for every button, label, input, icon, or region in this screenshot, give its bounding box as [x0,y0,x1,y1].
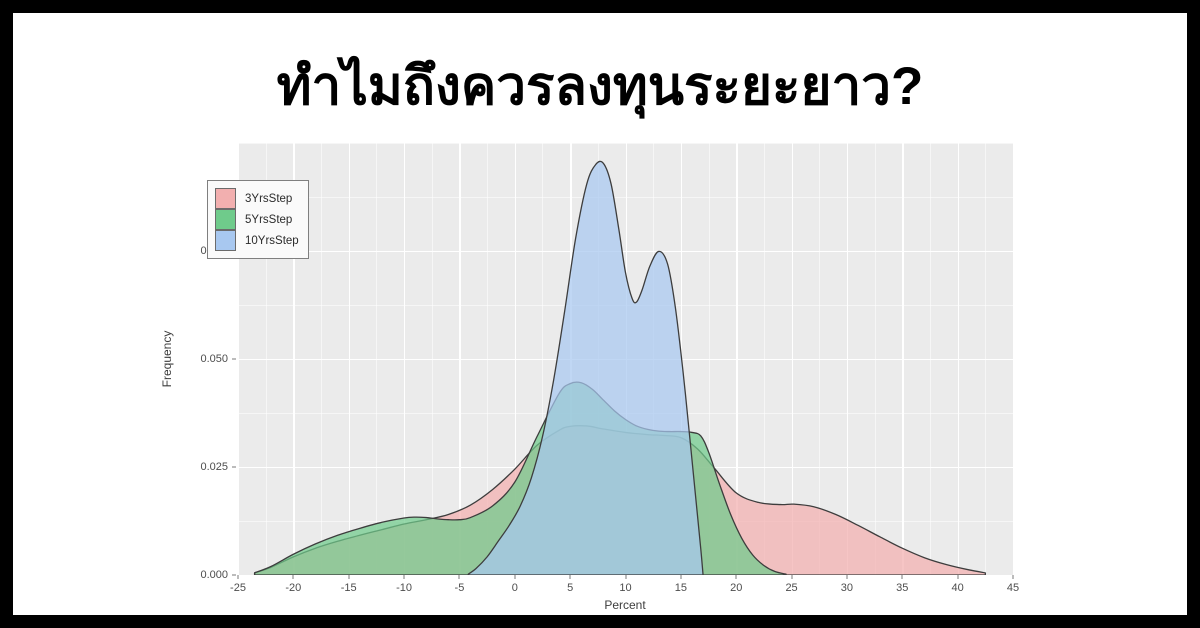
x-axis-tick-mark [348,575,349,579]
x-axis-tick-label: 5 [567,582,573,594]
x-axis-tick-mark [680,575,681,579]
x-axis-tick-label: 30 [841,582,853,594]
x-axis-tick-mark [570,575,571,579]
x-axis-tick-label: -5 [455,582,465,594]
x-axis-tick-label: 45 [1007,582,1019,594]
x-axis-tick-label: 25 [785,582,797,594]
x-axis-tick-mark [902,575,903,579]
y-axis-tick-mark [232,359,236,360]
y-axis-tick-label: 0.025 [200,461,228,473]
x-axis-tick-mark [293,575,294,579]
x-axis-label: Percent [604,598,645,612]
x-axis-tick-mark [957,575,958,579]
legend-item-10yrsstep[interactable]: 10YrsStep [215,230,299,251]
x-axis-tick-mark [846,575,847,579]
x-axis-tick-mark [238,575,239,579]
y-axis-label: Frequency [160,331,174,388]
x-axis-tick-mark [404,575,405,579]
image-frame: ทำไมถึงควรลงทุนระยะยาว? 0.0000.0250.0500… [0,0,1200,628]
x-axis-tick-label: 35 [896,582,908,594]
x-axis-tick-label: -20 [285,582,301,594]
brand-name: SiamQuant [1023,9,1186,42]
legend-swatch-icon [215,209,236,230]
x-axis-tick-label: 15 [675,582,687,594]
x-axis-tick-mark [791,575,792,579]
x-axis-tick-mark [514,575,515,579]
legend-item-label: 3YrsStep [245,193,292,205]
x-axis-tick-mark [459,575,460,579]
density-chart: 0.0000.0250.0500.075 -25-20-15-10-505101… [173,130,1023,615]
x-axis-tick-label: -10 [396,582,412,594]
x-axis-tick-label: 0 [512,582,518,594]
legend-swatch-icon [215,230,236,251]
chart-curves [238,143,1013,575]
page-title: ทำไมถึงควรลงทุนระยะยาว? [13,55,1187,119]
y-axis-tick-label: 0.050 [200,353,228,365]
x-axis-tick-label: 40 [952,582,964,594]
x-axis-tick-mark [1013,575,1014,579]
y-axis-tick-label: 0.000 [200,569,228,581]
x-axis-tick-label: -15 [341,582,357,594]
legend-item-label: 10YrsStep [245,235,299,247]
legend-swatch-icon [215,188,236,209]
legend-item-5yrsstep[interactable]: 5YrsStep [215,209,299,230]
y-axis-tick-mark [232,575,236,576]
x-axis-tick-label: 10 [619,582,631,594]
x-axis-tick-mark [736,575,737,579]
x-axis-tick-mark [625,575,626,579]
legend-item-label: 5YrsStep [245,214,292,226]
content-card: ทำไมถึงควรลงทุนระยะยาว? 0.0000.0250.0500… [13,13,1187,615]
x-axis-tick-label: -25 [230,582,246,594]
legend-item-3yrsstep[interactable]: 3YrsStep [215,188,299,209]
chart-plot-panel [238,143,1013,575]
chart-legend[interactable]: 3YrsStep5YrsStep10YrsStep [207,180,309,259]
y-axis-tick-mark [232,467,236,468]
brand-logo: SiamQuant [1015,4,1194,46]
x-axis-tick-label: 20 [730,582,742,594]
